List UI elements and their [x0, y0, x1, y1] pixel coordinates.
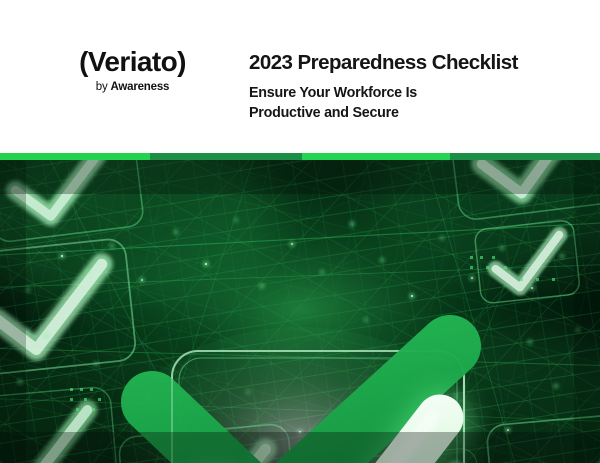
page-subtitle-line-2: Productive and Secure: [249, 104, 579, 124]
document-header: (Veriato) by Awareness 2023 Preparedness…: [0, 0, 600, 153]
logo-wordmark: (Veriato): [70, 48, 195, 76]
page-title: 2023 Preparedness Checklist: [249, 52, 579, 75]
title-block: 2023 Preparedness Checklist Ensure Your …: [249, 52, 579, 123]
logo-tagline: by Awareness: [70, 81, 195, 93]
document-page: (Veriato) by Awareness 2023 Preparedness…: [0, 0, 600, 463]
logo-tagline-prefix: by: [96, 81, 111, 93]
hero-image: [0, 160, 600, 463]
hero-illustration: [0, 160, 600, 463]
page-subtitle-line-1: Ensure Your Workforce Is: [249, 84, 579, 104]
logo-tagline-text: Awareness: [111, 81, 170, 93]
veriato-logo: (Veriato) by Awareness: [70, 48, 195, 93]
